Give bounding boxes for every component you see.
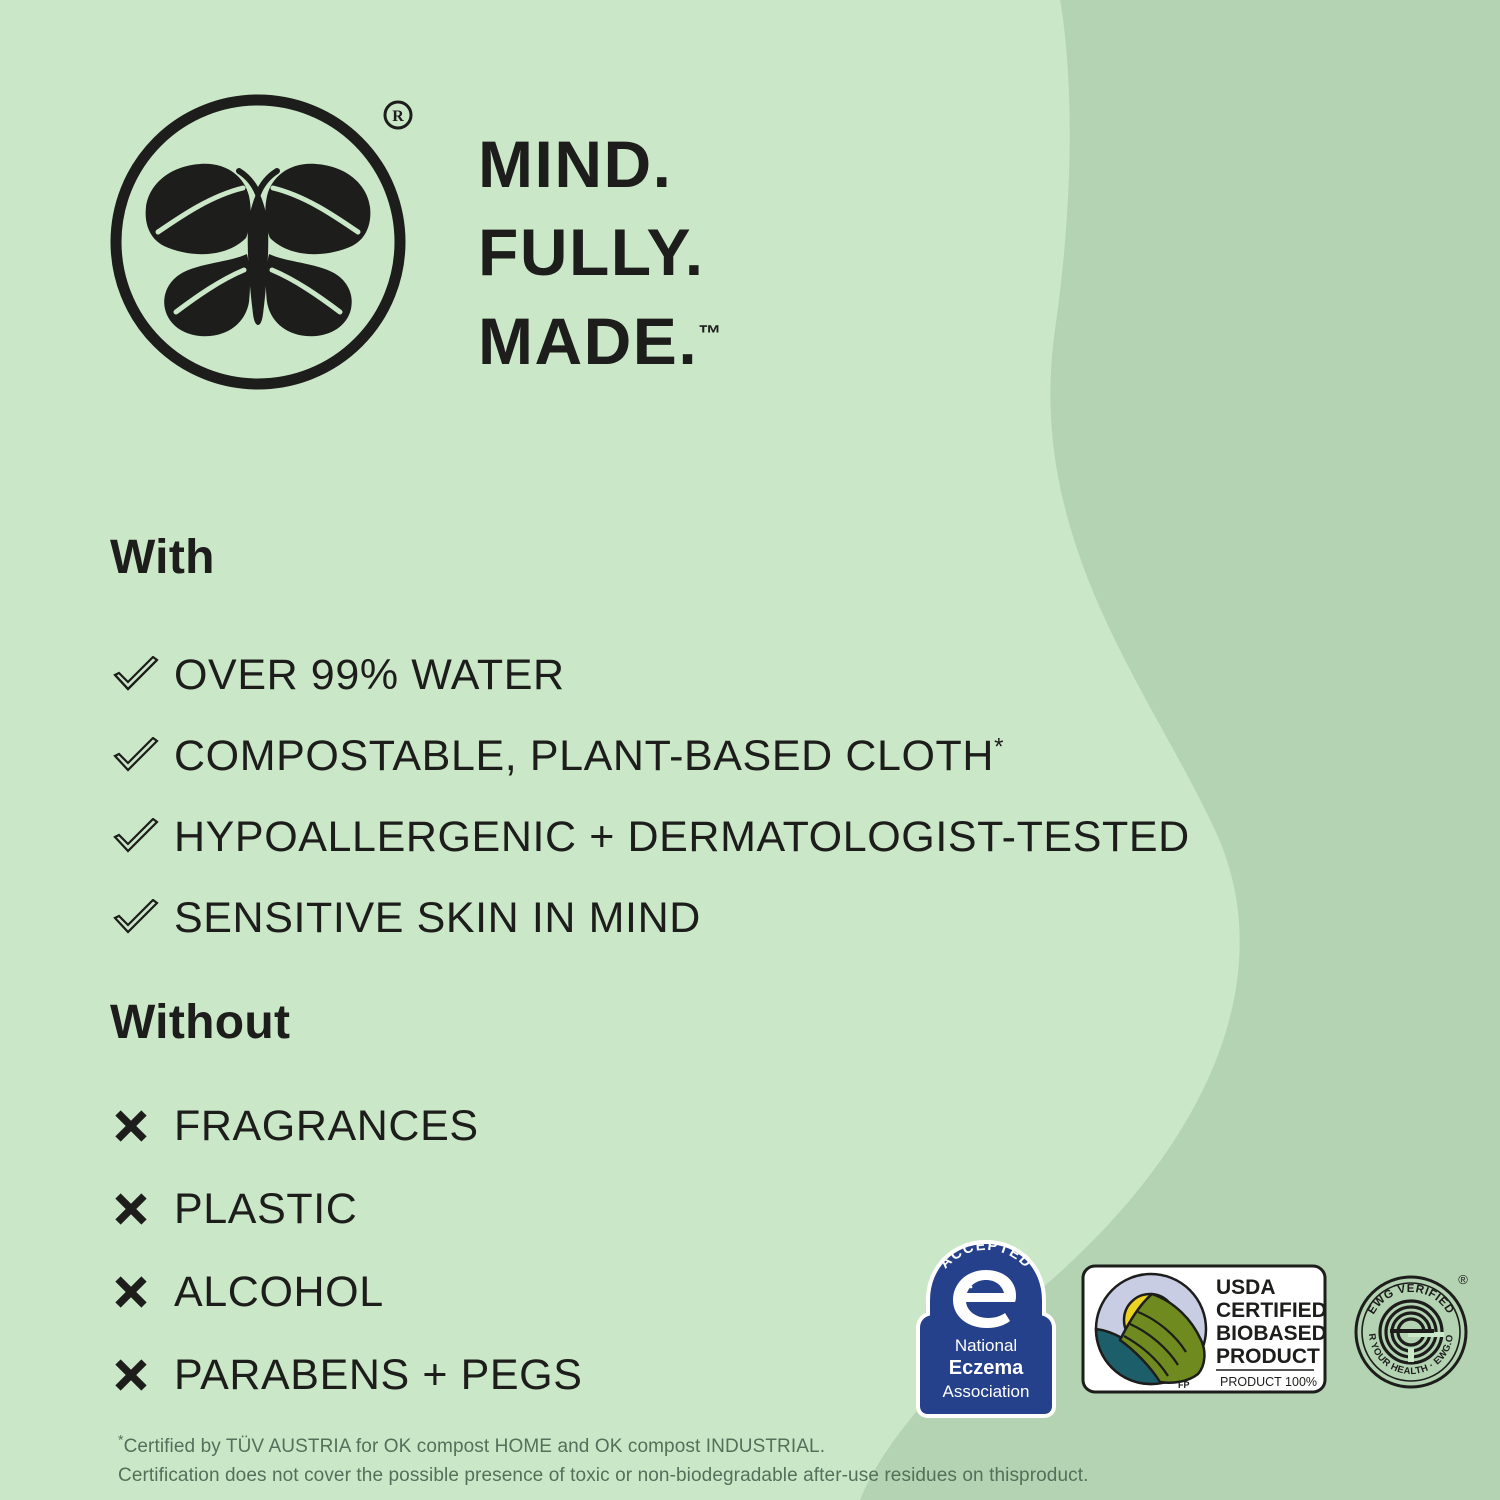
check-outline-icon (112, 737, 174, 777)
with-item-label-4: SENSITIVE SKIN IN MIND (174, 894, 701, 943)
without-list: FRAGRANCES PLASTIC ALCOHOL (112, 1085, 583, 1417)
list-item: COMPOSTABLE, PLANT-BASED CLOTH* (112, 716, 1190, 797)
list-item: SENSITIVE SKIN IN MIND (112, 878, 1190, 959)
footnote-block: *Certified by TÜV AUSTRIA for OK compost… (118, 1432, 1089, 1491)
brand-tagline: MIND. FULLY. MADE.™ (478, 120, 721, 385)
list-item: FRAGRANCES (112, 1085, 583, 1168)
ewg-verified-badge: EWG VERIFIED FOR YOUR HEALTH · EWG.ORG ® (1350, 1266, 1476, 1392)
usda-line-3: BIOBASED (1216, 1322, 1327, 1345)
check-outline-icon (112, 899, 174, 939)
without-item-label-1: FRAGRANCES (174, 1102, 479, 1151)
nea-line-3: Association (943, 1382, 1030, 1401)
with-item-label-2: COMPOSTABLE, PLANT-BASED CLOTH* (174, 732, 1004, 781)
trademark-mark: ™ (698, 320, 721, 346)
without-item-label-2: PLASTIC (174, 1185, 357, 1234)
nea-line-2: Eczema (949, 1357, 1024, 1379)
cross-icon (112, 1358, 174, 1394)
with-item-label-3: HYPOALLERGENIC + DERMATOLOGIST-TESTED (174, 813, 1190, 862)
brand-logo-block: R (108, 72, 721, 412)
without-section-title: Without (110, 995, 290, 1050)
svg-text:R: R (392, 108, 404, 125)
ewg-registered-mark: ® (1458, 1272, 1468, 1287)
usda-line-1: USDA (1216, 1276, 1276, 1299)
usda-line-2: CERTIFIED (1216, 1299, 1327, 1322)
usda-certified-biobased-product-badge: FP USDA CERTIFIED BIOBASED PRODUCT PRODU… (1080, 1260, 1328, 1398)
footnote-ref: * (994, 734, 1004, 761)
brand-line-3-wrap: MADE.™ (478, 297, 721, 385)
with-list: OVER 99% WATER COMPOSTABLE, PLANT-BASED … (112, 635, 1190, 959)
with-section-title: With (110, 530, 215, 585)
cross-icon (112, 1192, 174, 1228)
without-item-label-3: ALCOHOL (174, 1268, 384, 1317)
butterfly-in-circle-logo: R (108, 72, 418, 412)
list-item: PARABENS + PEGS (112, 1334, 583, 1417)
usda-subline: PRODUCT 100% (1220, 1375, 1317, 1389)
with-item-label-1: OVER 99% WATER (174, 651, 565, 700)
brand-line-2: FULLY. (478, 208, 721, 296)
nea-line-1: National (955, 1336, 1017, 1355)
list-item: ALCOHOL (112, 1251, 583, 1334)
usda-line-4: PRODUCT (1216, 1345, 1320, 1368)
without-item-label-4: PARABENS + PEGS (174, 1351, 583, 1400)
check-outline-icon (112, 656, 174, 696)
list-item: OVER 99% WATER (112, 635, 1190, 716)
list-item: HYPOALLERGENIC + DERMATOLOGIST-TESTED (112, 797, 1190, 878)
check-outline-icon (112, 818, 174, 858)
brand-line-3: MADE. (478, 304, 698, 378)
national-eczema-association-badge: ACCEPTED (912, 1240, 1060, 1418)
cross-icon (112, 1109, 174, 1145)
brand-line-1: MIND. (478, 120, 721, 208)
list-item: PLASTIC (112, 1168, 583, 1251)
cross-icon (112, 1275, 174, 1311)
footnote-line-2: Certification does not cover the possibl… (118, 1461, 1089, 1490)
usda-corner-mark: FP (1178, 1380, 1190, 1390)
certification-badges: ACCEPTED (912, 1240, 1476, 1418)
product-claims-panel: R (0, 0, 1500, 1500)
footnote-line-1: *Certified by TÜV AUSTRIA for OK compost… (118, 1432, 1089, 1461)
